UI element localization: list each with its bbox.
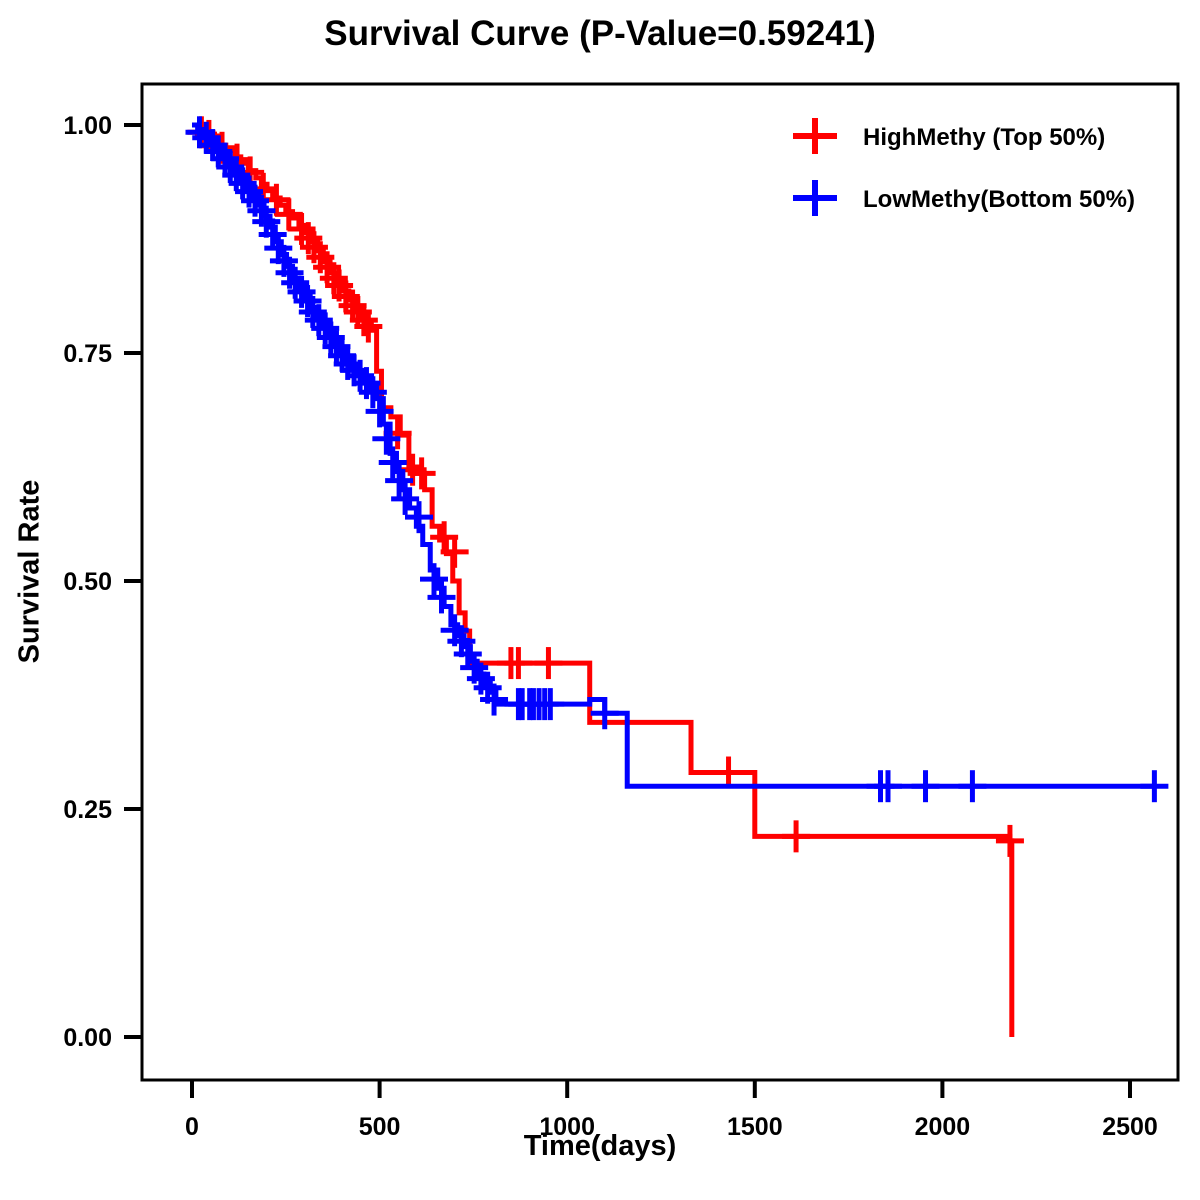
x-tick-label: 1000 bbox=[539, 1113, 595, 1141]
x-tick-label: 0 bbox=[185, 1113, 199, 1141]
plot-area: 0.000.250.500.751.00 0500100015002000250… bbox=[0, 0, 1200, 1200]
survival-curve-figure: Survival Curve (P-Value=0.59241) Surviva… bbox=[0, 0, 1200, 1200]
y-tick-label: 0.75 bbox=[63, 340, 112, 368]
x-axis-ticks: 05001000150020002500 bbox=[185, 1080, 1158, 1141]
censor-marks bbox=[186, 116, 1169, 802]
series-high-methy bbox=[187, 116, 1024, 1037]
x-tick-label: 2500 bbox=[1102, 1113, 1158, 1141]
chart-legend: HighMethy (Top 50%)LowMethy(Bottom 50%) bbox=[793, 118, 1135, 216]
legend-entry[interactable]: HighMethy (Top 50%) bbox=[793, 118, 1105, 154]
y-tick-label: 1.00 bbox=[63, 112, 112, 140]
x-tick-label: 500 bbox=[359, 1113, 401, 1141]
censor-marks bbox=[187, 116, 1024, 857]
y-tick-label: 0.00 bbox=[63, 1024, 112, 1052]
legend-entry[interactable]: LowMethy(Bottom 50%) bbox=[793, 180, 1135, 216]
axis-frame bbox=[142, 84, 1178, 1080]
legend-label: HighMethy (Top 50%) bbox=[863, 124, 1105, 151]
y-axis-ticks: 0.000.250.500.751.00 bbox=[63, 112, 142, 1052]
step-line bbox=[192, 125, 1154, 786]
y-tick-label: 0.50 bbox=[63, 568, 112, 596]
x-tick-label: 2000 bbox=[915, 1113, 971, 1141]
plus-marker-icon bbox=[793, 180, 837, 216]
y-tick-label: 0.25 bbox=[63, 796, 112, 824]
series-layer bbox=[186, 116, 1169, 1037]
plus-marker-icon bbox=[793, 118, 837, 154]
series-low-methy bbox=[186, 116, 1169, 802]
legend-label: LowMethy(Bottom 50%) bbox=[863, 186, 1135, 213]
x-tick-label: 1500 bbox=[727, 1113, 783, 1141]
